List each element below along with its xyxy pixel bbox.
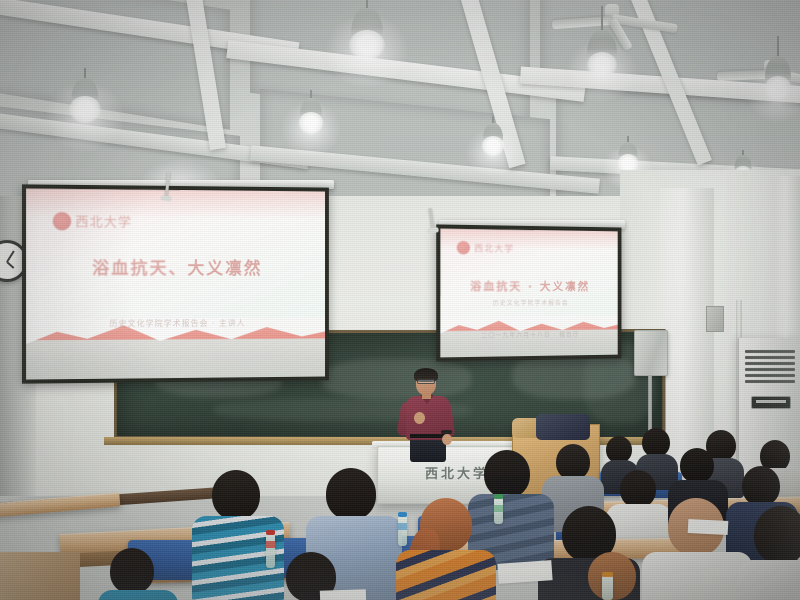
- pendant-light: [752, 36, 800, 122]
- left-slide-title: 浴血抗天、大义凛然: [26, 254, 325, 280]
- desk-left-end: [0, 552, 80, 600]
- ac-display-panel[interactable]: [751, 396, 791, 409]
- ac-control-box: [706, 306, 724, 332]
- water-bottle: [266, 534, 275, 568]
- left-slide-subtitle: 历史文化学院学术报告会 · 主讲人: [26, 317, 325, 329]
- right-slide-subtitle: 历史文化学院学术报告会: [440, 298, 617, 307]
- left-slide-logo-row: 西北大学: [53, 211, 132, 231]
- pendant-light: [336, 0, 398, 82]
- wall-speaker: [634, 330, 668, 376]
- pendant-light: [574, 6, 630, 92]
- wall-pillar-right: [776, 176, 800, 356]
- right-slide-logo-row: 西北大学: [457, 241, 514, 255]
- right-slide-logo-text: 西北大学: [474, 241, 514, 255]
- lecture-hall-photo: 西北大学 浴血抗天、大义凛然 历史文化学院学术报告会 · 主讲人 西北大学 浴血: [0, 0, 800, 600]
- screen-frame-right: 西北大学 浴血抗天 · 大义凛然 历史文化学院学术报告会 二〇一九年六月十八日 …: [436, 224, 621, 361]
- presenter-belt: [410, 434, 446, 438]
- glasses-icon: [417, 379, 435, 384]
- ac-vents-icon: [745, 350, 795, 384]
- desk-left-far: [0, 492, 120, 517]
- presenter: [396, 368, 460, 460]
- notebook-page: [688, 519, 729, 535]
- notebook-page: [320, 589, 366, 600]
- university-seal-icon: [53, 212, 71, 230]
- presenter-left-hand: [414, 412, 425, 424]
- dark-backpack: [536, 414, 590, 440]
- right-slide: 西北大学 浴血抗天 · 大义凛然 历史文化学院学术报告会 二〇一九年六月十八日 …: [440, 229, 617, 358]
- water-bottle: [494, 498, 503, 524]
- left-slide-logo-text: 西北大学: [75, 211, 132, 231]
- right-slide-title: 浴血抗天 · 大义凛然: [440, 278, 617, 294]
- notebook-page: [497, 560, 552, 584]
- water-bottle: [398, 516, 407, 546]
- left-slide: 西北大学 浴血抗天、大义凛然 历史文化学院学术报告会 · 主讲人: [26, 188, 325, 379]
- pendant-light: [286, 90, 336, 160]
- water-bottle: [602, 576, 613, 600]
- pendant-light: [54, 68, 116, 152]
- presenter-right-hand: [442, 434, 452, 445]
- university-seal-icon: [457, 241, 470, 254]
- pendant-light: [470, 116, 516, 180]
- screen-frame-left: 西北大学 浴血抗天、大义凛然 历史文化学院学术报告会 · 主讲人: [22, 184, 329, 383]
